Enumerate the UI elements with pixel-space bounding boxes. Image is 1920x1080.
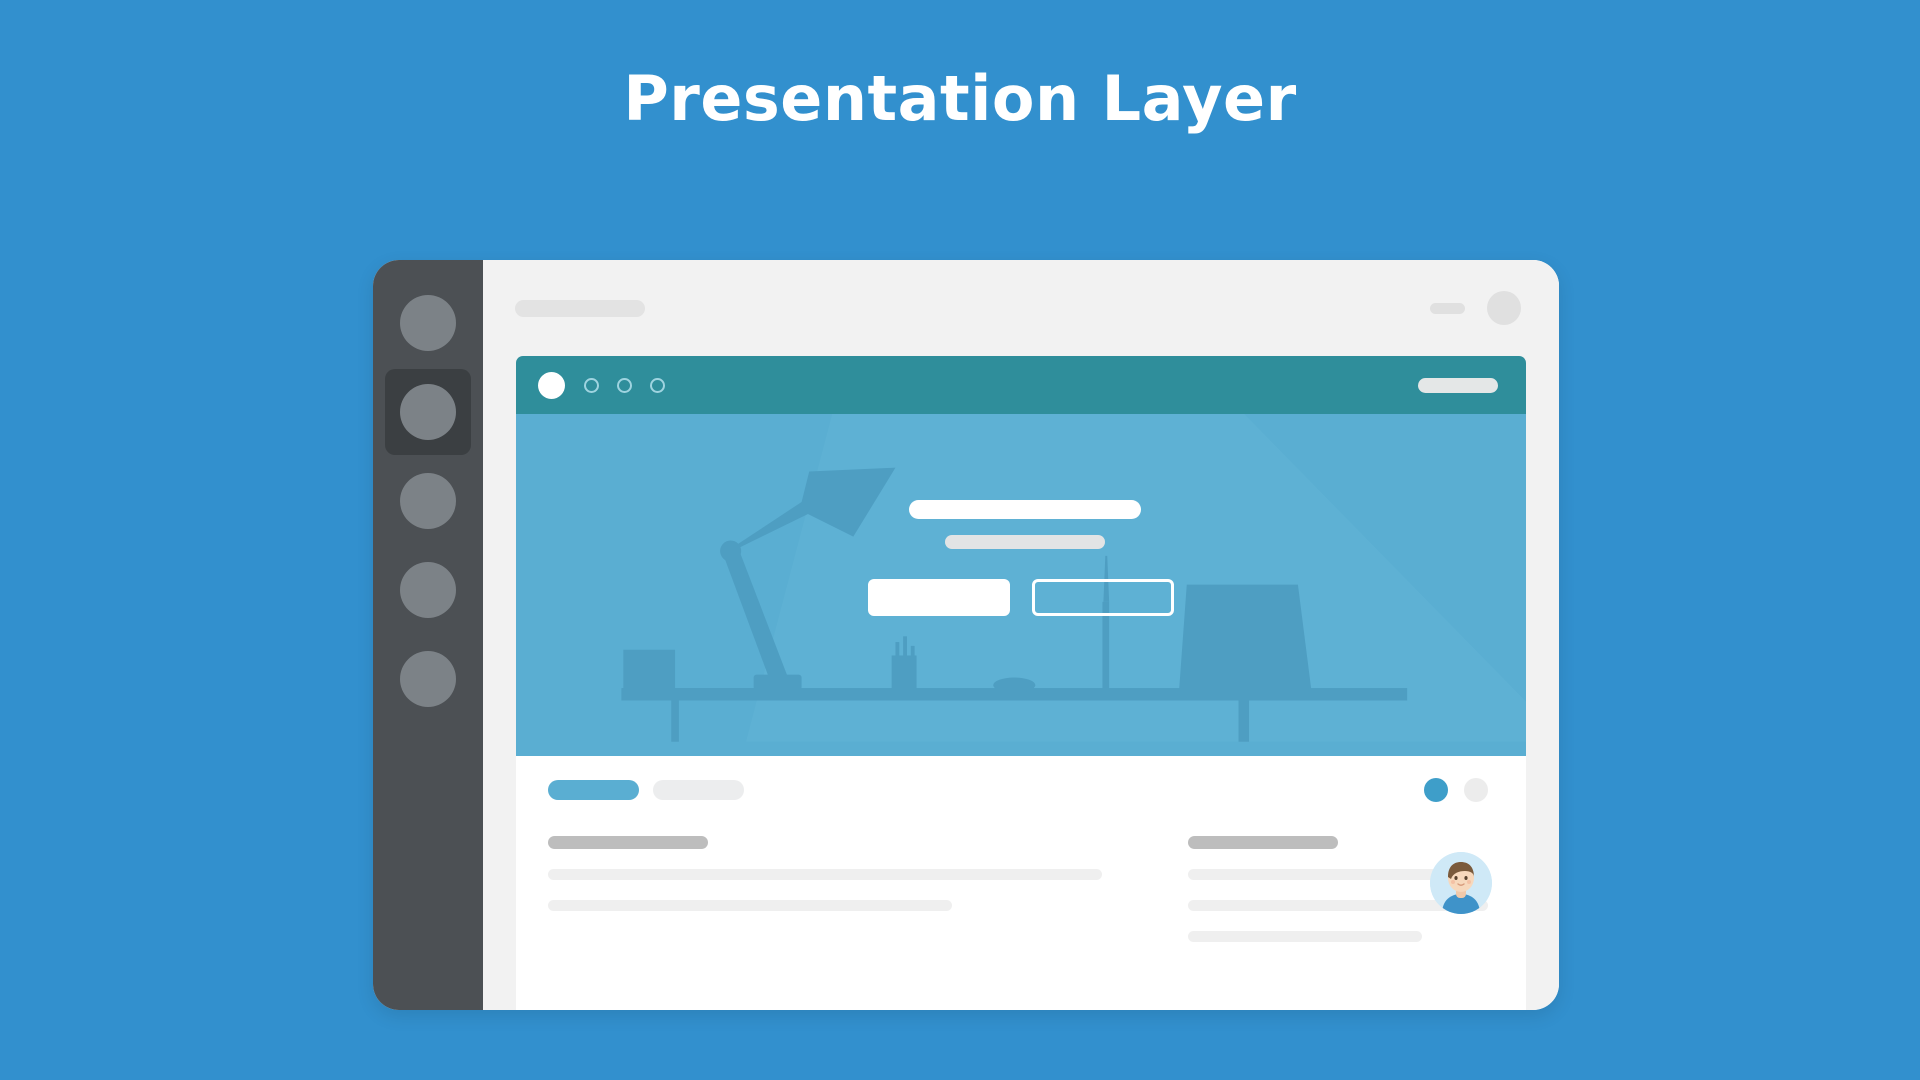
page-title: Presentation Layer (0, 62, 1920, 135)
pagination-dots (1424, 778, 1488, 802)
secondary-cta-button[interactable] (1032, 579, 1174, 616)
sidebar-item-3[interactable] (385, 458, 471, 544)
nav-circle-icon (400, 295, 456, 351)
pager-dot-1[interactable] (1424, 778, 1448, 802)
content-columns (548, 836, 1488, 942)
app-toolbar (483, 260, 1559, 356)
user-avatar[interactable] (1430, 852, 1492, 914)
tab-two[interactable] (653, 780, 744, 800)
nav-circle-icon (400, 384, 456, 440)
left-column (548, 836, 1102, 942)
primary-cta-button[interactable] (868, 579, 1010, 616)
right-column-line-3 (1188, 931, 1422, 942)
content-tabs (548, 780, 744, 800)
left-column-line-2 (548, 900, 952, 911)
address-bar-pill[interactable] (1418, 378, 1498, 393)
hero-content (516, 500, 1526, 616)
sidebar-item-2[interactable] (385, 369, 471, 455)
hero-subtitle-placeholder (945, 535, 1105, 549)
left-column-heading (548, 836, 708, 849)
left-column-line-1 (548, 869, 1102, 880)
nav-circle-icon (400, 651, 456, 707)
tab-dot-1-icon[interactable] (584, 378, 599, 393)
pager-dot-2[interactable] (1464, 778, 1488, 802)
nav-circle-icon (400, 562, 456, 618)
main-pane (483, 260, 1559, 1010)
sidebar-item-1[interactable] (385, 280, 471, 366)
tab-dot-3-icon[interactable] (650, 378, 665, 393)
sidebar-item-5[interactable] (385, 636, 471, 722)
hero-button-group (868, 579, 1174, 616)
profile-circle-icon[interactable] (1487, 291, 1521, 325)
right-column-heading (1188, 836, 1338, 849)
hero-section (516, 414, 1526, 756)
sidebar-item-4[interactable] (385, 547, 471, 633)
device-frame (373, 260, 1559, 1010)
content-toolbar (548, 778, 1488, 802)
minimize-icon[interactable] (1430, 303, 1465, 314)
hero-headline-placeholder (909, 500, 1141, 519)
browser-chrome-bar (516, 356, 1526, 414)
sidebar (373, 260, 483, 1010)
nav-circle-icon (400, 473, 456, 529)
active-tab-dot-icon[interactable] (538, 372, 565, 399)
tab-dot-2-icon[interactable] (617, 378, 632, 393)
toolbar-actions (1430, 291, 1521, 325)
avatar-person-icon (1430, 852, 1492, 914)
browser-window (516, 356, 1526, 1010)
browser-tab-dots (584, 378, 665, 393)
content-section (516, 756, 1526, 1010)
toolbar-title-placeholder (515, 300, 645, 317)
tab-one[interactable] (548, 780, 639, 800)
